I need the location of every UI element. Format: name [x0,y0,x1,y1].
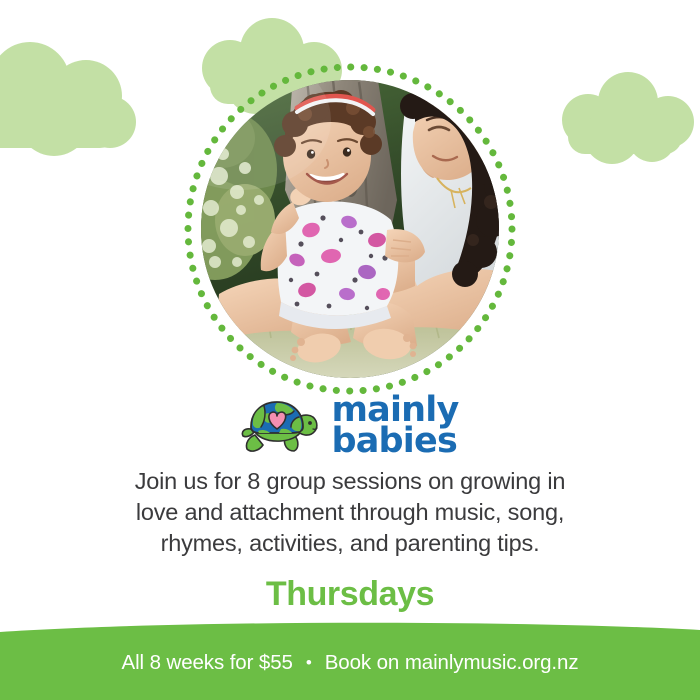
description-line-2: love and attachment through music, song, [60,497,640,528]
brand-wordmark: mainly babies [331,395,458,459]
footer-banner: All 8 weeks for $55 • Book on mainlymusi… [0,618,700,700]
turtle-icon [241,399,319,455]
footer-booking-link[interactable]: Book on mainlymusic.org.nz [325,651,579,675]
session-day-heading: Thursdays [0,575,700,614]
footer-price: All 8 weeks for $55 [122,651,293,675]
description-text: Join us for 8 group sessions on growing … [60,466,640,559]
poster-canvas: mainly babies Join us for 8 group sessio… [0,0,700,700]
wordmark-line-2: babies [331,426,458,457]
photo-dotted-ring [183,62,517,396]
footer-separator-dot: • [306,654,312,671]
footer-text-row: All 8 weeks for $55 • Book on mainlymusi… [0,618,700,700]
description-line-1: Join us for 8 group sessions on growing … [60,466,640,497]
cloud-right-icon [556,70,700,168]
cloud-left-icon [0,36,168,156]
brand-logo: mainly babies [0,396,700,458]
photo-circle [183,62,517,396]
description-line-3: rhymes, activities, and parenting tips. [60,528,640,559]
